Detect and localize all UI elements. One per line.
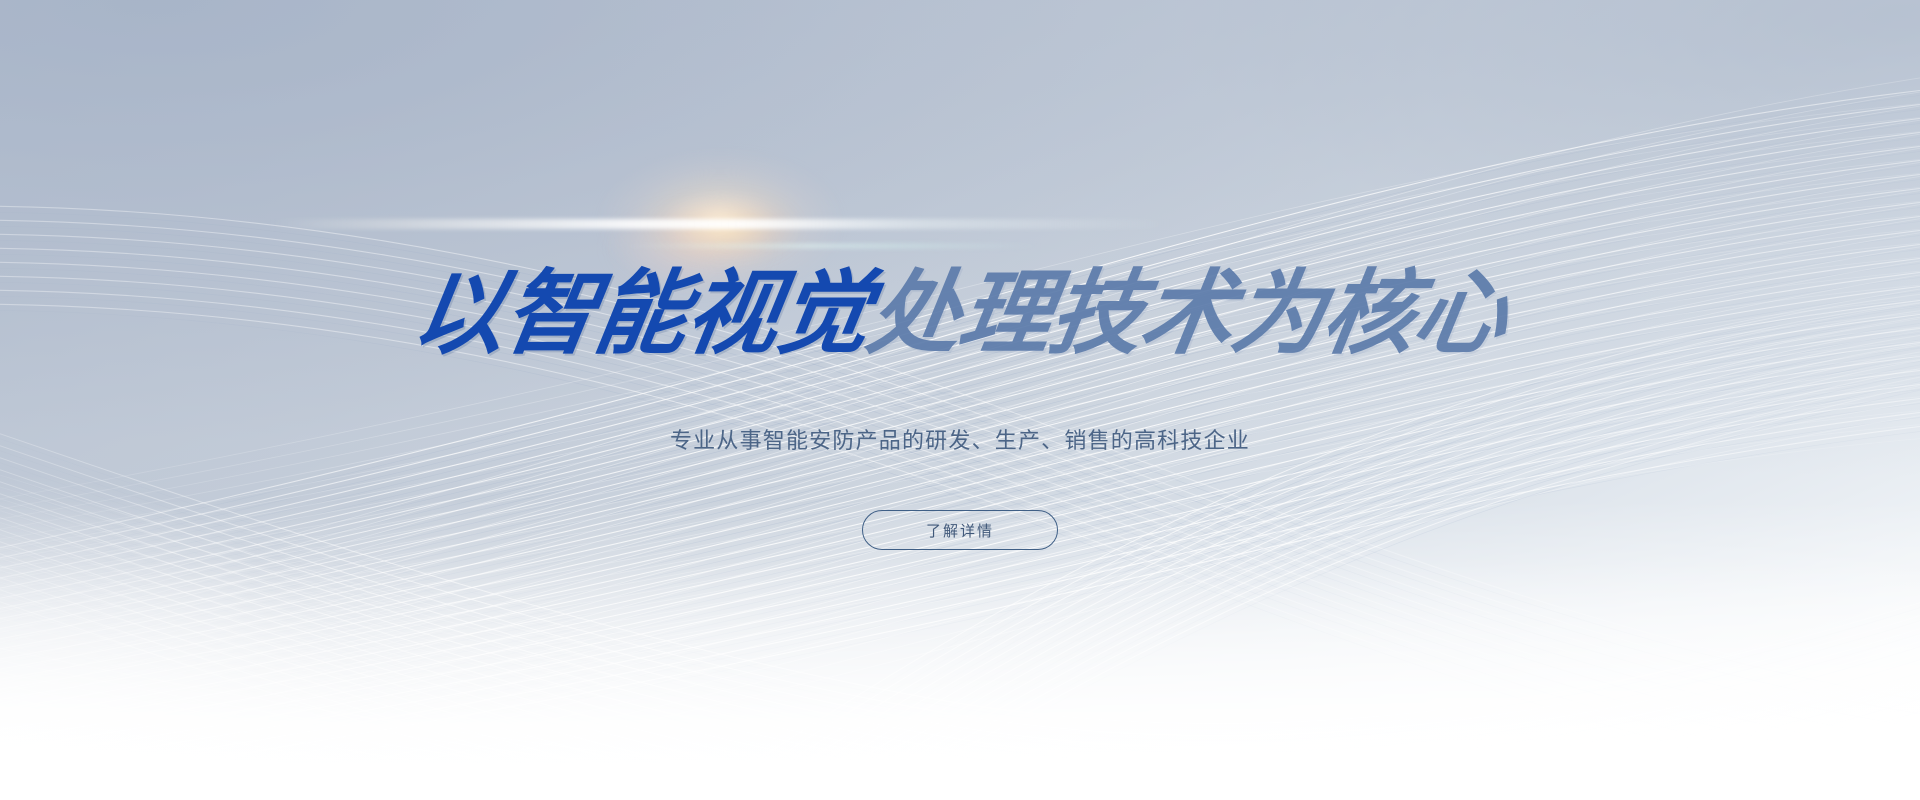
cta-container: 了解详情	[0, 510, 1920, 550]
headline-segment-primary: 以智能视觉	[407, 268, 877, 360]
hero-content: 以智能视觉处理技术为核心 专业从事智能安防产品的研发、生产、销售的高科技企业 了…	[0, 0, 1920, 800]
hero-banner: 以智能视觉处理技术为核心 专业从事智能安防产品的研发、生产、销售的高科技企业 了…	[0, 0, 1920, 800]
headline-segment-secondary: 处理技术为核心	[862, 268, 1514, 360]
learn-more-button[interactable]: 了解详情	[862, 510, 1058, 550]
page-subtitle: 专业从事智能安防产品的研发、生产、销售的高科技企业	[0, 426, 1920, 457]
page-title: 以智能视觉处理技术为核心	[0, 268, 1920, 360]
